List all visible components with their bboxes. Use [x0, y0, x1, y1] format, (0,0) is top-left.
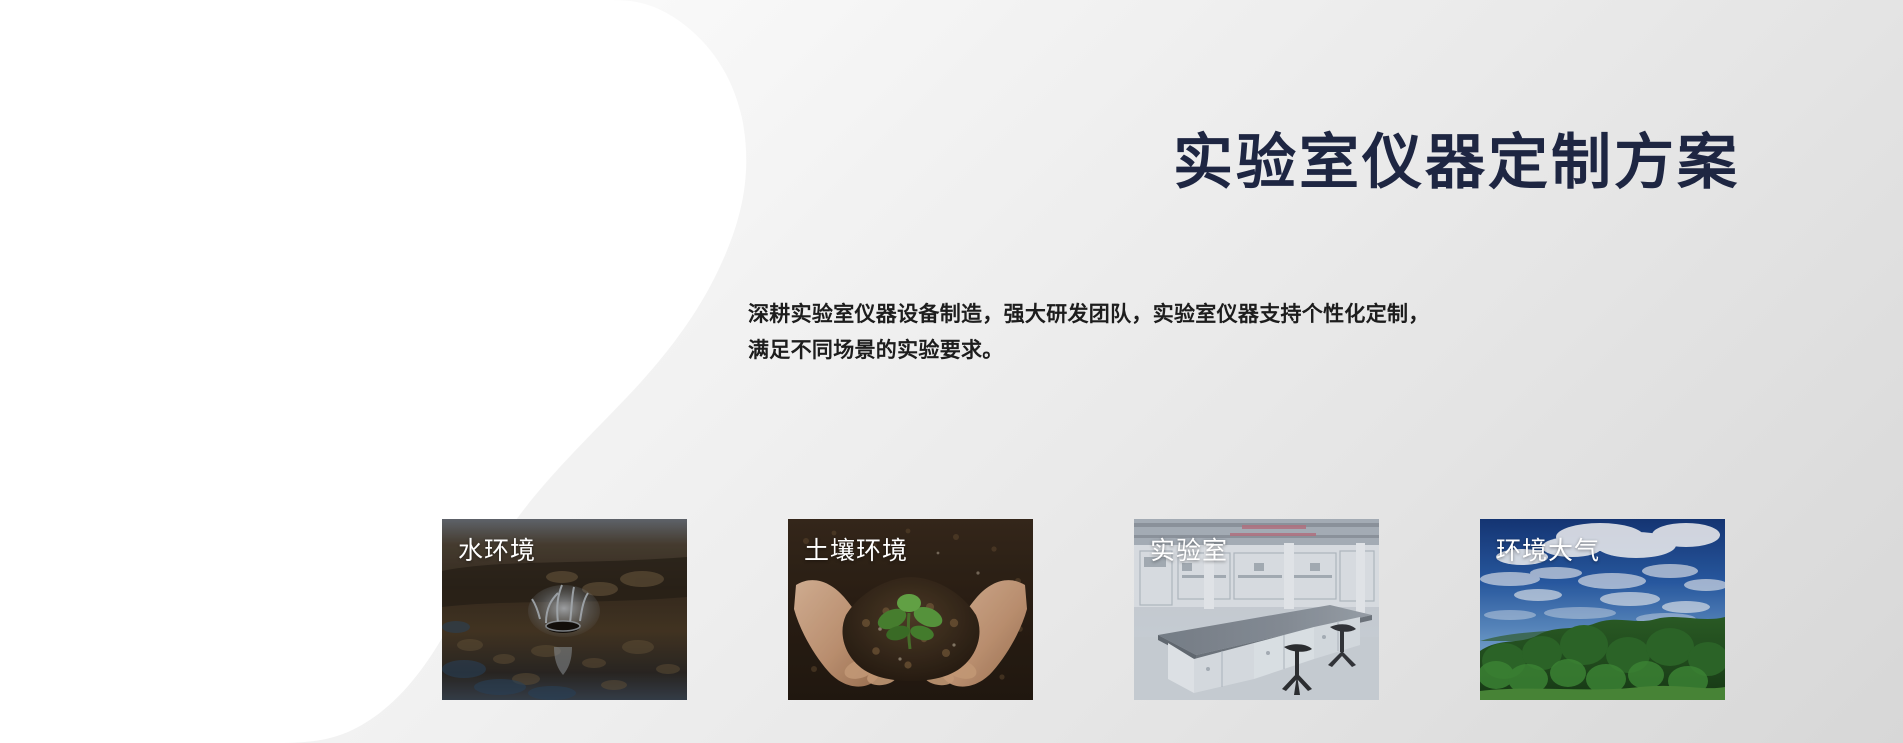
- card-atmosphere-environment[interactable]: 环境大气: [1480, 519, 1725, 700]
- card-water-environment[interactable]: 水环境: [442, 519, 687, 700]
- subtitle-line-1: 深耕实验室仪器设备制造，强大研发团队，实验室仪器支持个性化定制，: [748, 297, 1748, 333]
- decor-circle-small: [240, 447, 304, 507]
- decor-circle-large: [326, 130, 442, 234]
- card-label: 实验室: [1150, 531, 1228, 567]
- card-label: 环境大气: [1496, 531, 1600, 567]
- card-soil-environment[interactable]: 土壤环境: [788, 519, 1033, 700]
- card-label: 水环境: [458, 531, 536, 567]
- page-title: 实验室仪器定制方案: [748, 128, 1748, 199]
- card-label: 土壤环境: [804, 531, 908, 567]
- card-laboratory[interactable]: 实验室: [1134, 519, 1379, 700]
- category-card-strip: 水环境: [442, 519, 1720, 700]
- subtitle-block: 深耕实验室仪器设备制造，强大研发团队，实验室仪器支持个性化定制， 满足不同场景的…: [748, 297, 1748, 369]
- hero-banner: 实验室仪器定制方案 深耕实验室仪器设备制造，强大研发团队，实验室仪器支持个性化定…: [0, 0, 1903, 743]
- subtitle-line-2: 满足不同场景的实验要求。: [748, 333, 1748, 369]
- headline-block: 实验室仪器定制方案: [748, 128, 1748, 199]
